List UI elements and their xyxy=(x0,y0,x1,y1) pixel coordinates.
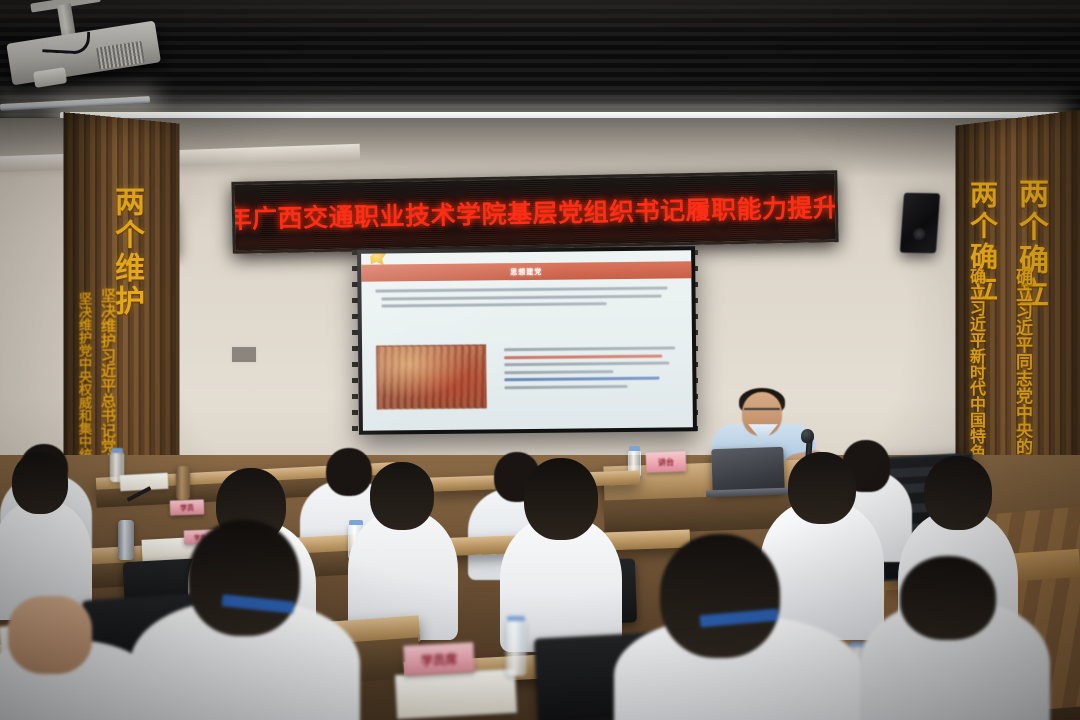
thermos-steel-row2 xyxy=(118,520,134,560)
name-card-mid-text: 学员席 xyxy=(421,650,458,669)
presenter-glasses-icon xyxy=(744,408,780,417)
presenter-laptop xyxy=(711,447,784,493)
notebook-row1-b xyxy=(395,669,517,719)
water-bottle-row1 xyxy=(506,620,526,676)
presentation-slide: 思想建党 xyxy=(361,250,693,430)
microphone-head-icon xyxy=(801,429,814,443)
classroom-photo: 2023年广西交通职业技术学院基层党组织书记履职能力提升培训班 思想建党 xyxy=(0,0,1080,720)
ceiling-glow xyxy=(0,0,1080,40)
wall-panel-icon xyxy=(230,345,258,364)
slide-second-column xyxy=(504,346,680,393)
wall-speaker-right-icon xyxy=(900,193,940,253)
name-card-left-1: 学员 xyxy=(170,499,205,515)
thermos-row3 xyxy=(176,466,190,500)
name-card-front-text: 讲台 xyxy=(658,456,674,468)
slide-photo xyxy=(376,344,487,409)
slide-body-text xyxy=(375,286,679,312)
name-card-front: 讲台 xyxy=(646,451,687,472)
projection-screen: 思想建党 xyxy=(357,246,697,435)
slide-header-bar: 思想建党 xyxy=(361,261,691,281)
name-card-mid: 学员席 xyxy=(403,642,474,676)
slide-title: 思想建党 xyxy=(510,266,542,276)
name-card-left-1-text: 学员 xyxy=(180,502,194,512)
